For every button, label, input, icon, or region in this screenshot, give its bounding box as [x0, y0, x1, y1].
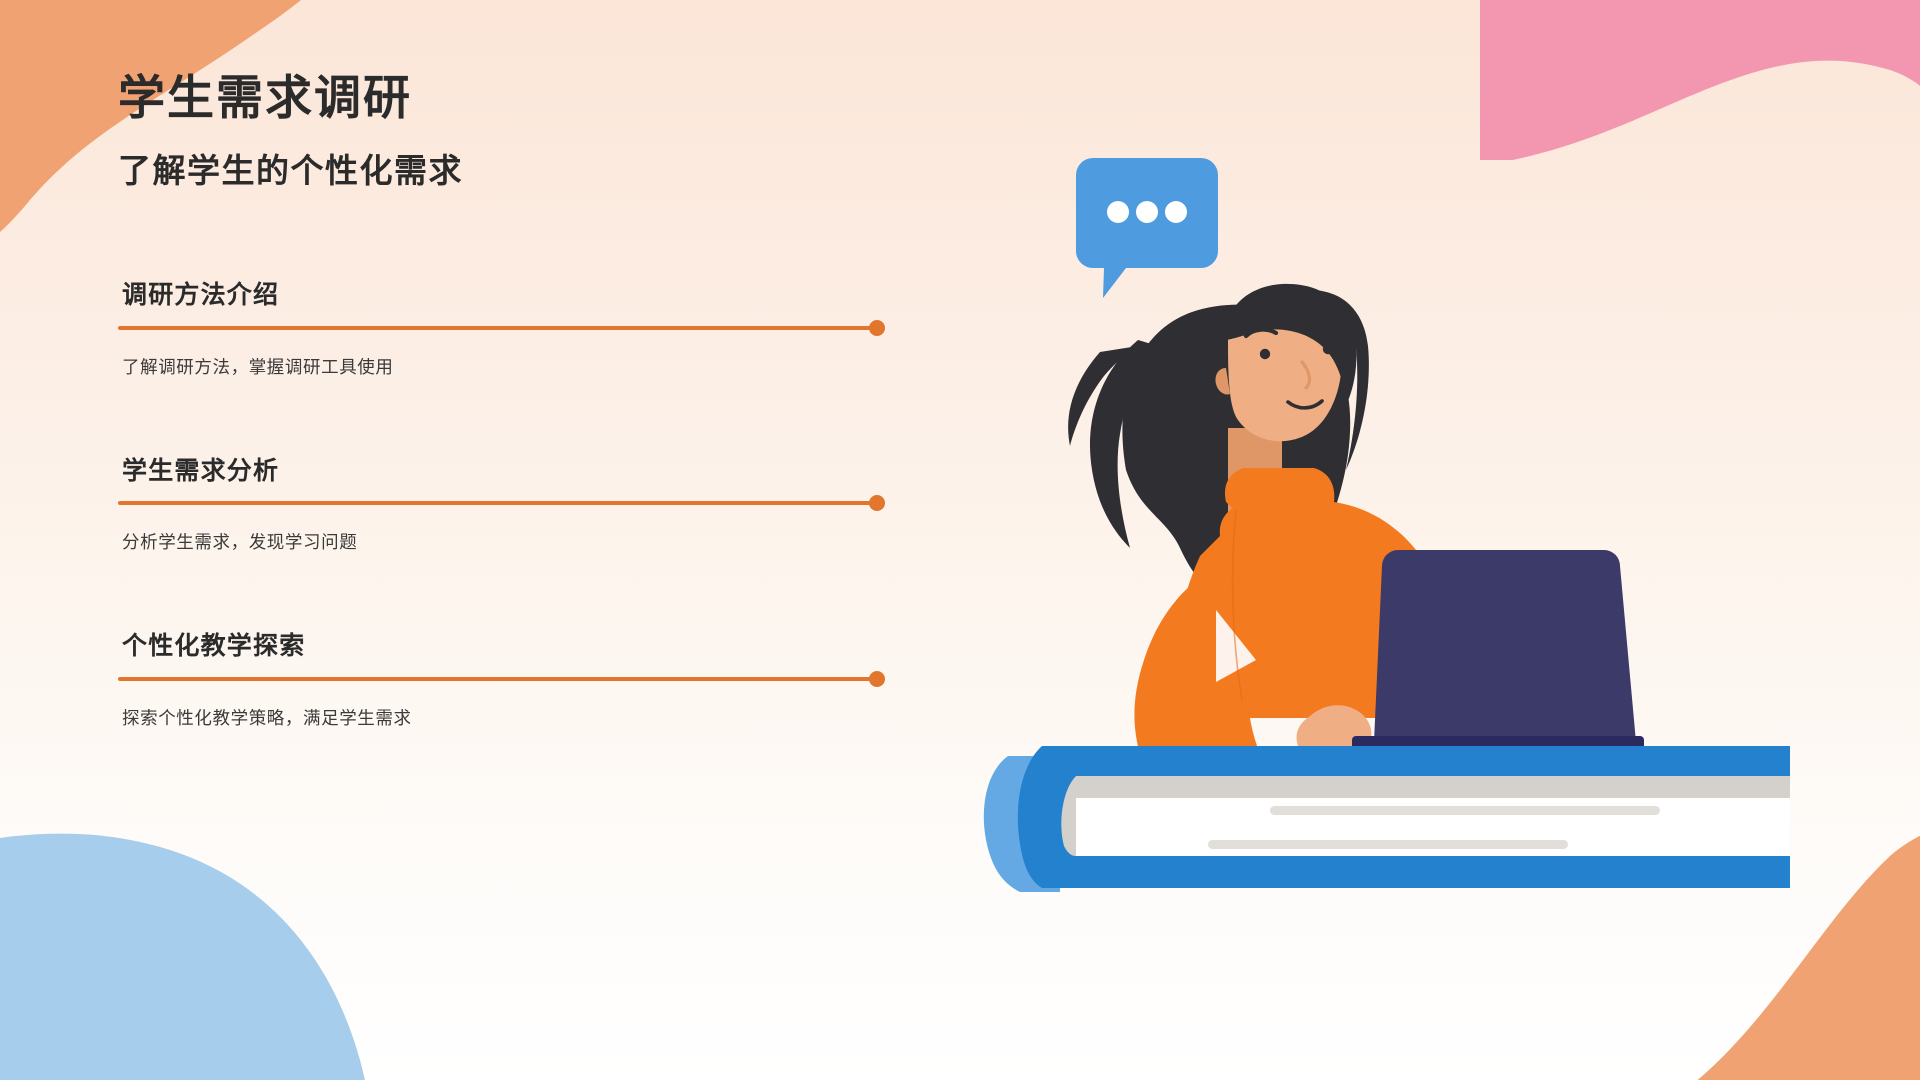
- feature-item-2[interactable]: 学生需求分析 分析学生需求，发现学习问题: [118, 455, 938, 555]
- feature-heading: 个性化教学探索: [118, 630, 938, 663]
- underline-end-dot-icon: [869, 320, 885, 336]
- feature-underline: [118, 501, 878, 505]
- feature-list: 调研方法介绍 了解调研方法，掌握调研工具使用 学生需求分析 分析学生需求，发现学…: [118, 279, 938, 730]
- blue-book-illustration: [984, 746, 1790, 892]
- feature-underline: [118, 677, 878, 681]
- underline-end-dot-icon: [869, 495, 885, 511]
- decor-blob-top-right: [1480, 0, 1920, 160]
- laptop: [1352, 550, 1644, 752]
- feature-heading: 调研方法介绍: [118, 279, 938, 312]
- woman-with-laptop-illustration: [980, 140, 1800, 900]
- slide-canvas: 学生需求调研 了解学生的个性化需求 调研方法介绍 了解调研方法，掌握调研工具使用…: [0, 0, 1920, 1080]
- feature-underline: [118, 326, 878, 330]
- page-title: 学生需求调研: [118, 70, 938, 125]
- feature-description: 了解调研方法，掌握调研工具使用: [118, 354, 938, 379]
- feature-item-3[interactable]: 个性化教学探索 探索个性化教学策略，满足学生需求: [118, 630, 938, 730]
- page-line: [1208, 840, 1568, 849]
- speech-bubble-icon: [1076, 158, 1218, 298]
- feature-description: 探索个性化教学策略，满足学生需求: [118, 705, 938, 730]
- text-column: 学生需求调研 了解学生的个性化需求 调研方法介绍 了解调研方法，掌握调研工具使用…: [118, 70, 938, 730]
- feature-description: 分析学生需求，发现学习问题: [118, 529, 938, 554]
- feature-heading: 学生需求分析: [118, 455, 938, 488]
- decor-blob-bottom-left: [0, 810, 380, 1080]
- page-subtitle: 了解学生的个性化需求: [118, 151, 938, 191]
- page-line: [1270, 806, 1660, 815]
- feature-item-1[interactable]: 调研方法介绍 了解调研方法，掌握调研工具使用: [118, 279, 938, 379]
- underline-end-dot-icon: [869, 671, 885, 687]
